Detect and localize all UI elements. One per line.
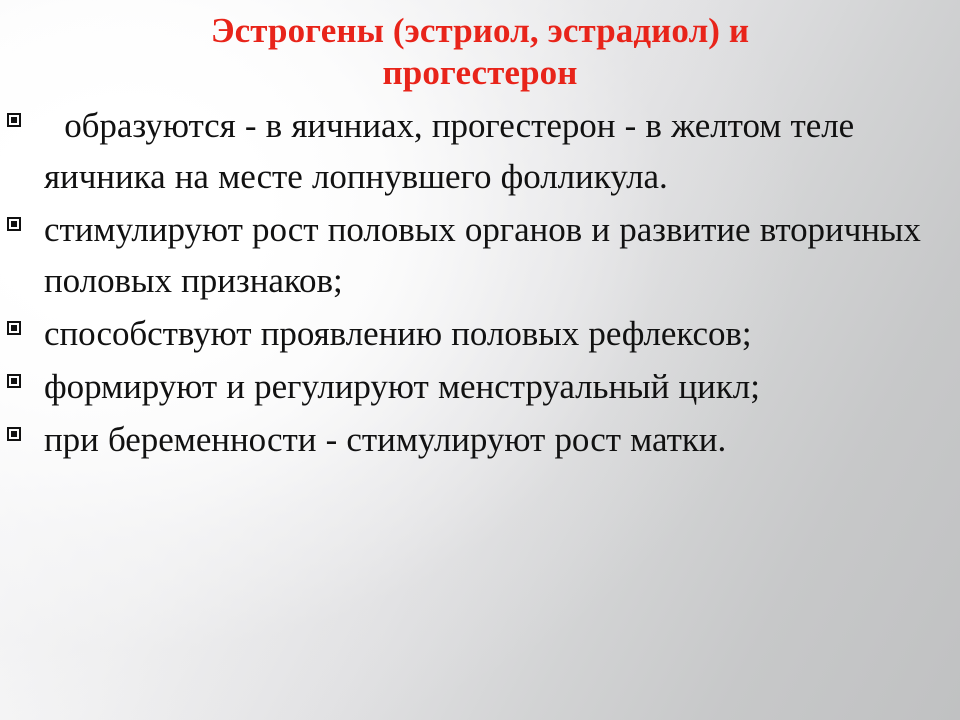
presentation-slide: Эстрогены (эстриол, эстрадиол) и прогест… <box>0 0 960 720</box>
bullet-item-2: стимулируют рост половых органов и разви… <box>0 204 956 306</box>
square-bullet-icon <box>0 100 44 127</box>
square-bullet-icon <box>0 308 44 335</box>
bullet-item-4-text: формируют и регулируют менструальный цик… <box>44 361 956 412</box>
slide-bullet-list: образуются - в яичниах, прогестерон - в … <box>0 100 960 467</box>
bullet-item-2-text: стимулируют рост половых органов и разви… <box>44 204 956 306</box>
bullet-item-5-text: при беременности - стимулируют рост матк… <box>44 414 956 465</box>
square-bullet-icon <box>0 414 44 441</box>
slide-title: Эстрогены (эстриол, эстрадиол) и прогест… <box>0 10 960 94</box>
bullet-item-1-text: образуются - в яичниах, прогестерон - в … <box>44 100 956 202</box>
bullet-item-1: образуются - в яичниах, прогестерон - в … <box>0 100 956 202</box>
slide-title-line-1: Эстрогены (эстриол, эстрадиол) и <box>0 10 960 52</box>
square-bullet-icon <box>0 361 44 388</box>
bullet-item-3: способствуют проявлению половых рефлексо… <box>0 308 956 359</box>
bullet-item-3-text: способствуют проявлению половых рефлексо… <box>44 308 956 359</box>
slide-title-line-2: прогестерон <box>0 52 960 94</box>
bullet-item-4: формируют и регулируют менструальный цик… <box>0 361 956 412</box>
square-bullet-icon <box>0 204 44 231</box>
bullet-item-5: при беременности - стимулируют рост матк… <box>0 414 956 465</box>
